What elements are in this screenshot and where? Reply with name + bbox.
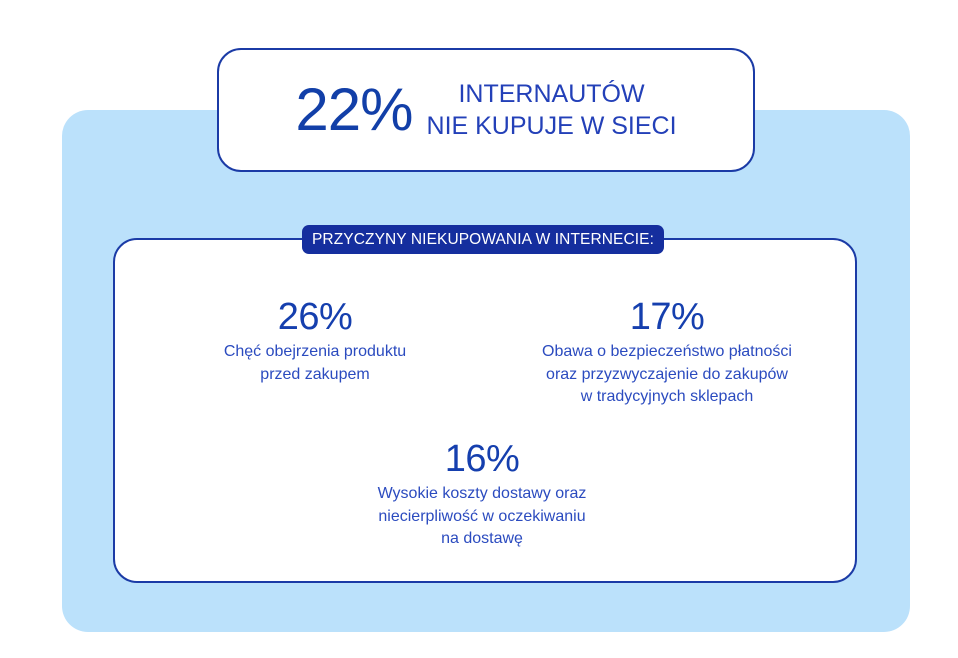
stat-description-1: Chęć obejrzenia produktu przed zakupem: [165, 341, 465, 386]
stat-description-3: Wysokie koszty dostawy oraz niecierpliwo…: [332, 483, 632, 551]
reasons-badge-label: PRZYCZYNY NIEKUPOWANIA W INTERNECIE:: [302, 225, 664, 254]
stat-percent-2: 17%: [497, 298, 837, 338]
stat-3-line-2: niecierpliwość w oczekiwaniu: [332, 506, 632, 529]
stat-block-2: 17% Obawa o bezpieczeństwo płatności ora…: [497, 298, 837, 409]
stat-2-line-1: Obawa o bezpieczeństwo płatności: [497, 341, 837, 364]
stat-3-line-1: Wysokie koszty dostawy oraz: [332, 483, 632, 506]
infographic-root: 22% INTERNAUTÓW NIE KUPUJE W SIECI PRZYC…: [0, 0, 958, 658]
headline-text: INTERNAUTÓW NIE KUPUJE W SIECI: [427, 78, 677, 142]
headline-percent: 22%: [295, 80, 412, 140]
stat-2-line-2: oraz przyzwyczajenie do zakupów: [497, 364, 837, 387]
stat-percent-3: 16%: [332, 440, 632, 480]
stat-1-line-1: Chęć obejrzenia produktu: [165, 341, 465, 364]
headline-card: 22% INTERNAUTÓW NIE KUPUJE W SIECI: [217, 48, 755, 172]
headline-line-1: INTERNAUTÓW: [458, 78, 644, 110]
stat-block-1: 26% Chęć obejrzenia produktu przed zakup…: [165, 298, 465, 386]
stat-description-2: Obawa o bezpieczeństwo płatności oraz pr…: [497, 341, 837, 409]
headline-line-2: NIE KUPUJE W SIECI: [427, 110, 677, 142]
stat-1-line-2: przed zakupem: [165, 364, 465, 387]
stat-3-line-3: na dostawę: [332, 528, 632, 551]
stat-percent-1: 26%: [165, 298, 465, 338]
stat-block-3: 16% Wysokie koszty dostawy oraz niecierp…: [332, 440, 632, 551]
stat-2-line-3: w tradycyjnych sklepach: [497, 386, 837, 409]
